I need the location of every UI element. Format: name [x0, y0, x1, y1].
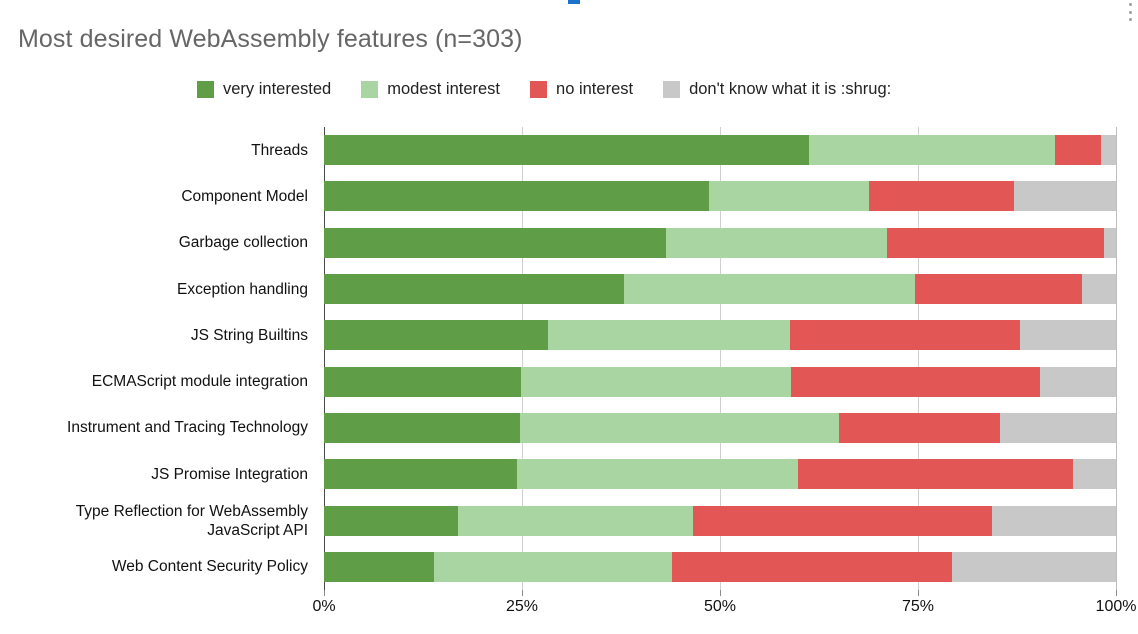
- bar-segment[interactable]: [887, 228, 1104, 258]
- x-axis-tick: [918, 590, 919, 596]
- bar-segment[interactable]: [791, 367, 1040, 397]
- bar-segment[interactable]: [1073, 459, 1116, 489]
- bar-segment[interactable]: [869, 181, 1014, 211]
- bar-row[interactable]: [324, 274, 1116, 304]
- bar-row[interactable]: [324, 367, 1116, 397]
- y-axis-label: Web Content Security Policy: [0, 557, 308, 576]
- bar-segment[interactable]: [952, 552, 1116, 582]
- legend-item[interactable]: don't know what it is :shrug:: [663, 80, 891, 99]
- bar-segment[interactable]: [839, 413, 1000, 443]
- x-axis-tick: [324, 590, 325, 596]
- bar-segment[interactable]: [548, 320, 790, 350]
- y-axis-label: Instrument and Tracing Technology: [0, 418, 308, 437]
- chart-legend: very interestedmodest interestno interes…: [197, 80, 921, 99]
- bar-segment[interactable]: [458, 506, 693, 536]
- y-axis-labels: ThreadsComponent ModelGarbage collection…: [0, 127, 316, 590]
- bar-segment[interactable]: [1000, 413, 1116, 443]
- bar-segment[interactable]: [1101, 135, 1116, 165]
- bar-segment[interactable]: [693, 506, 992, 536]
- y-axis-label: JS Promise Integration: [0, 465, 308, 484]
- bar-segment[interactable]: [1055, 135, 1101, 165]
- bar-segment[interactable]: [666, 228, 887, 258]
- bar-segment[interactable]: [324, 320, 548, 350]
- chart-page: Most desired WebAssembly features (n=303…: [0, 0, 1138, 634]
- bar-segment[interactable]: [624, 274, 915, 304]
- bar-segment[interactable]: [798, 459, 1074, 489]
- bar-segment[interactable]: [517, 459, 797, 489]
- y-axis-label: Exception handling: [0, 280, 308, 299]
- x-axis-tick: [720, 590, 721, 596]
- bar-segment[interactable]: [324, 459, 517, 489]
- bar-row[interactable]: [324, 181, 1116, 211]
- bar-row[interactable]: [324, 228, 1116, 258]
- bar-segment[interactable]: [1104, 228, 1116, 258]
- legend-item[interactable]: modest interest: [361, 80, 500, 99]
- bar-segment[interactable]: [324, 413, 520, 443]
- legend-swatch-icon: [197, 81, 214, 98]
- page-title: Most desired WebAssembly features (n=303…: [18, 25, 523, 54]
- legend-swatch-icon: [530, 81, 547, 98]
- bar-row[interactable]: [324, 413, 1116, 443]
- x-axis-tick: [1116, 590, 1117, 596]
- legend-swatch-icon: [361, 81, 378, 98]
- bar-segment[interactable]: [521, 367, 791, 397]
- y-axis-label: Garbage collection: [0, 233, 308, 252]
- bar-segment[interactable]: [709, 181, 869, 211]
- x-axis-tick-label: 0%: [312, 598, 335, 616]
- bar-segment[interactable]: [324, 181, 709, 211]
- bar-segment[interactable]: [915, 274, 1082, 304]
- vertical-ellipsis-icon[interactable]: [1128, 3, 1132, 21]
- bar-rows: [324, 127, 1116, 590]
- x-axis-labels: 0%25%50%75%100%: [0, 596, 1138, 626]
- bar-row[interactable]: [324, 135, 1116, 165]
- legend-label: no interest: [556, 80, 633, 99]
- bar-segment[interactable]: [324, 552, 434, 582]
- bar-segment[interactable]: [520, 413, 839, 443]
- bar-row[interactable]: [324, 506, 1116, 536]
- bar-segment[interactable]: [1014, 181, 1116, 211]
- bar-segment[interactable]: [1082, 274, 1116, 304]
- bar-segment[interactable]: [324, 274, 624, 304]
- x-axis-tick-label: 100%: [1096, 598, 1137, 616]
- y-axis-label: Type Reflection for WebAssembly JavaScri…: [0, 502, 308, 540]
- legend-label: don't know what it is :shrug:: [689, 80, 891, 99]
- bar-segment[interactable]: [1020, 320, 1116, 350]
- bar-segment[interactable]: [324, 506, 458, 536]
- bar-row[interactable]: [324, 459, 1116, 489]
- bar-segment[interactable]: [809, 135, 1055, 165]
- gridline: [1116, 127, 1117, 590]
- y-axis-label: Threads: [0, 141, 308, 160]
- bar-row[interactable]: [324, 320, 1116, 350]
- browser-accent-fragment: [568, 0, 580, 4]
- bar-row[interactable]: [324, 552, 1116, 582]
- legend-item[interactable]: very interested: [197, 80, 331, 99]
- bar-segment[interactable]: [992, 506, 1116, 536]
- bar-segment[interactable]: [790, 320, 1020, 350]
- bar-segment[interactable]: [324, 228, 666, 258]
- bar-segment[interactable]: [1040, 367, 1116, 397]
- bar-segment[interactable]: [324, 367, 521, 397]
- bar-segment[interactable]: [324, 135, 809, 165]
- y-axis-label: JS String Builtins: [0, 326, 308, 345]
- x-axis-tick: [522, 590, 523, 596]
- x-axis-tick-label: 25%: [506, 598, 538, 616]
- legend-item[interactable]: no interest: [530, 80, 633, 99]
- y-axis-label: ECMAScript module integration: [0, 372, 308, 391]
- legend-label: modest interest: [387, 80, 500, 99]
- plot-area: [324, 127, 1116, 590]
- x-axis-tick-label: 50%: [704, 598, 736, 616]
- legend-label: very interested: [223, 80, 331, 99]
- y-axis-label: Component Model: [0, 187, 308, 206]
- bar-segment[interactable]: [672, 552, 952, 582]
- legend-swatch-icon: [663, 81, 680, 98]
- x-axis-tick-label: 75%: [902, 598, 934, 616]
- bar-segment[interactable]: [434, 552, 672, 582]
